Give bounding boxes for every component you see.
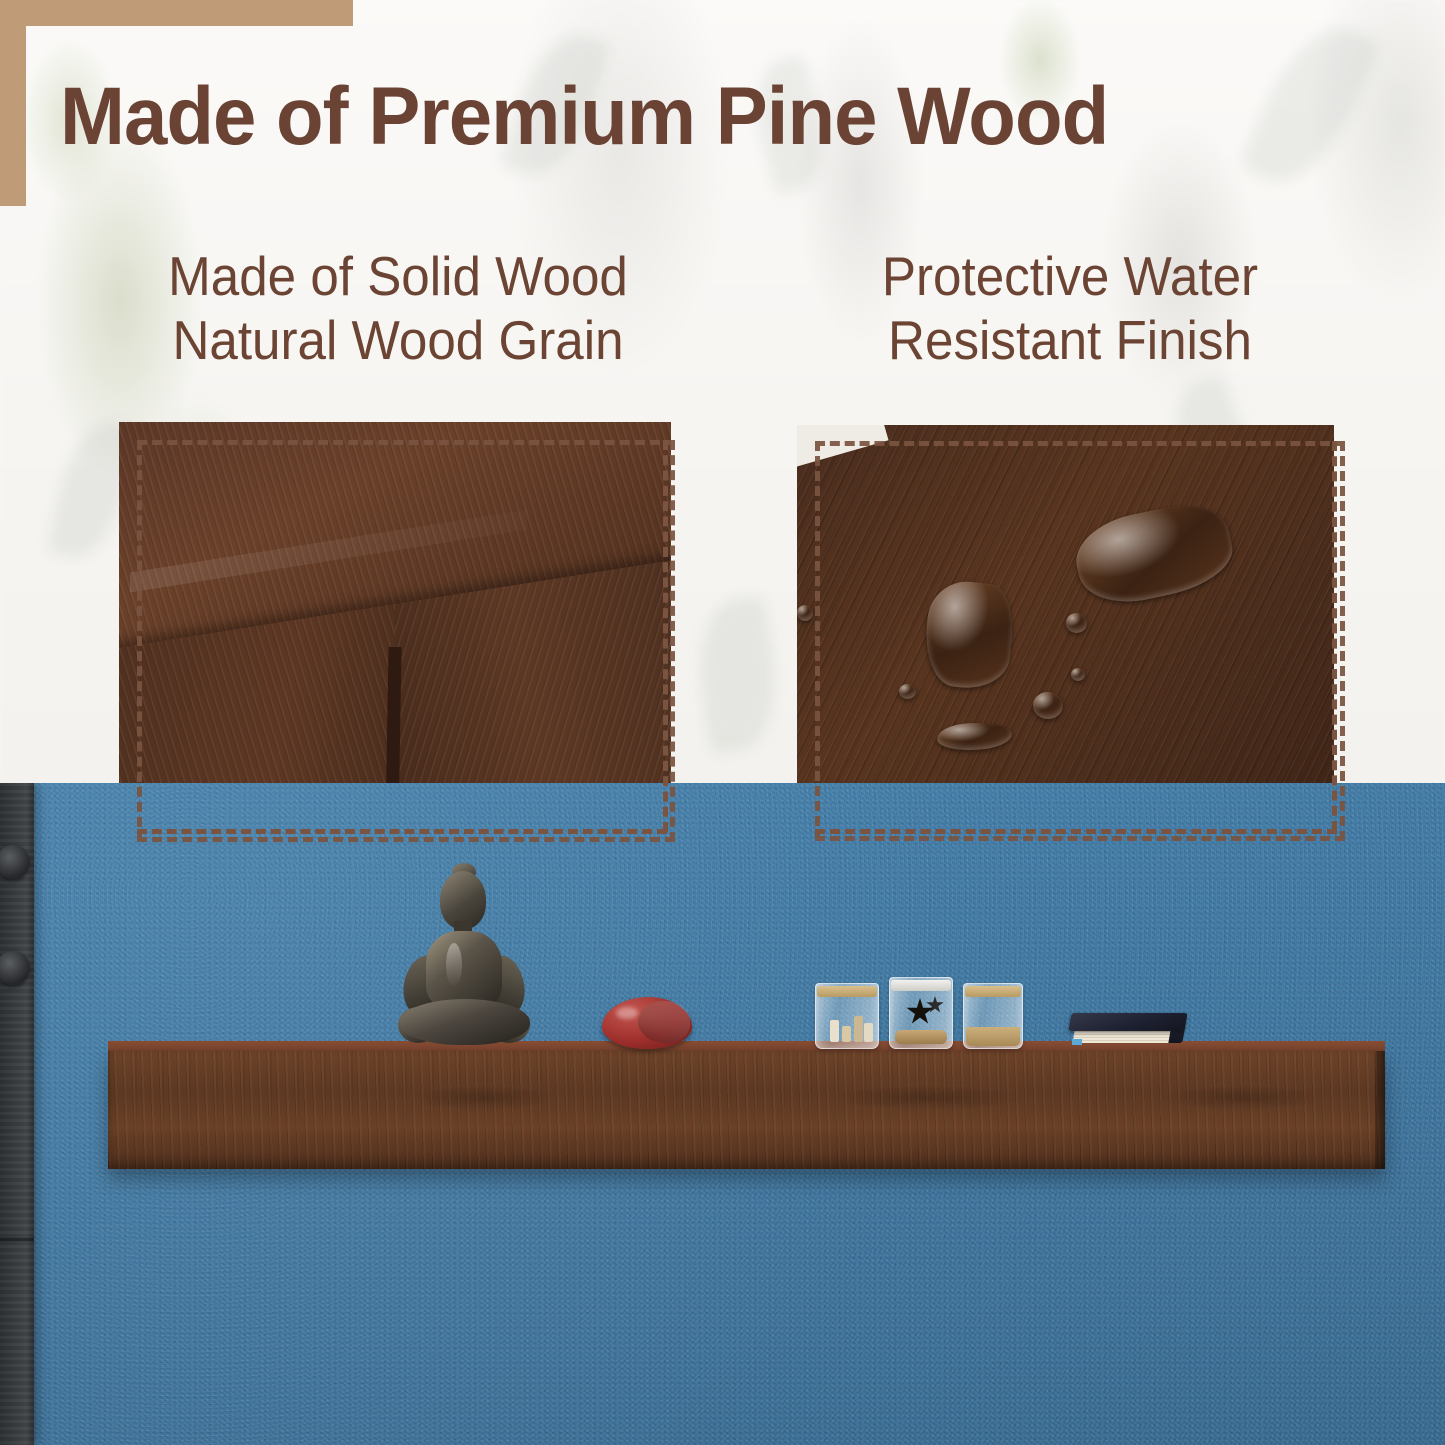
floating-wall-shelf	[108, 1041, 1385, 1169]
jar-sand-fill	[966, 1027, 1021, 1046]
shelf-front-face	[108, 1051, 1385, 1169]
shelf-end-cap	[1375, 1051, 1385, 1169]
statue-highlight	[446, 943, 462, 987]
glass-jar-group	[815, 979, 1015, 1049]
jar-candle	[854, 1016, 863, 1042]
product-feature-graphic: Made of Premium Pine Wood Made of Solid …	[0, 0, 1445, 1445]
feature-photo-water-resistant	[797, 425, 1334, 817]
book-bookmark	[1072, 1039, 1082, 1045]
shell-highlight	[616, 1007, 638, 1019]
feature-heading-line1: Protective Water	[782, 245, 1359, 309]
shell-swirl	[638, 1001, 690, 1043]
water-droplet-small	[899, 684, 916, 700]
water-droplet-splash	[921, 578, 1017, 692]
page-title: Made of Premium Pine Wood	[60, 76, 1333, 158]
dark-door-panel	[0, 783, 34, 1445]
door-lock-icon	[0, 951, 30, 985]
feature-photo-solid-wood	[119, 422, 671, 817]
photo-corner-cut	[797, 425, 888, 470]
jar-driftwood	[895, 1030, 947, 1044]
corner-accent-top-bar	[0, 0, 353, 26]
water-droplet-large	[1069, 496, 1239, 613]
statue-torso	[426, 931, 502, 1009]
glass-jar-star	[889, 977, 953, 1049]
feature-heading-solid-wood: Made of Solid Wood Natural Wood Grain	[100, 245, 695, 373]
door-knob-icon	[0, 845, 30, 879]
jar-candle	[830, 1020, 839, 1042]
red-shell-ornament	[602, 997, 692, 1049]
water-droplet-small	[1066, 613, 1087, 633]
glass-jar-candles	[815, 983, 879, 1049]
statue-lap	[400, 999, 530, 1045]
wood-corner-illustration	[119, 422, 671, 817]
jar-candle	[864, 1023, 873, 1042]
feature-heading-line1: Made of Solid Wood	[100, 245, 695, 309]
feature-heading-line2: Resistant Finish	[782, 309, 1359, 373]
water-droplet-small	[1033, 692, 1063, 719]
wood-grain-knot	[408, 1085, 558, 1111]
jar-candle	[842, 1026, 851, 1042]
water-beads-illustration	[797, 425, 1334, 817]
hardcover-book	[1070, 1013, 1186, 1047]
corner-accent-left-strip	[0, 0, 26, 206]
star-ornament-icon	[906, 998, 934, 1026]
door-seam	[0, 1238, 34, 1241]
wood-grain-knot	[828, 1085, 1028, 1111]
book-cover	[1068, 1013, 1187, 1031]
hero-lifestyle-photo	[0, 783, 1445, 1445]
star-ornament-icon	[926, 996, 944, 1014]
jar-lid	[965, 986, 1021, 997]
water-droplet-small	[1071, 668, 1085, 681]
jar-lid	[891, 980, 951, 991]
water-droplet-streak	[937, 723, 1012, 750]
jar-lid	[817, 986, 877, 997]
wood-grain-knot	[1158, 1085, 1328, 1111]
buddha-statue	[396, 871, 532, 1046]
water-droplet-small	[797, 605, 813, 621]
feature-heading-water-resistant: Protective Water Resistant Finish	[782, 245, 1359, 373]
glass-jar-sand	[963, 983, 1023, 1049]
feature-heading-line2: Natural Wood Grain	[100, 309, 695, 373]
